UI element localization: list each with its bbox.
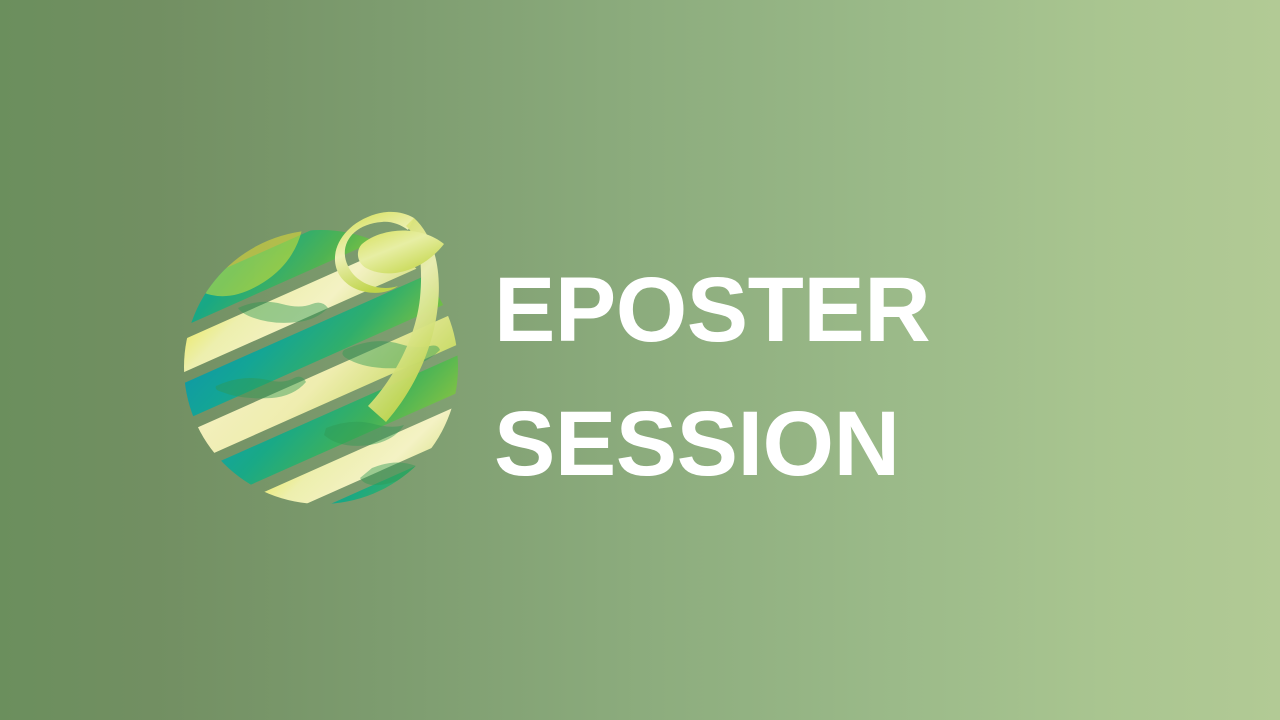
page-title: EPOSTER SESSION: [494, 243, 1194, 511]
globe-highlight: [202, 219, 304, 296]
title-line-1: EPOSTER: [494, 243, 1194, 377]
globe-leaf-logo-icon: [176, 200, 461, 512]
slide-canvas: EPOSTER SESSION: [0, 0, 1280, 720]
title-line-2: SESSION: [494, 377, 1194, 511]
logo: [176, 200, 461, 512]
